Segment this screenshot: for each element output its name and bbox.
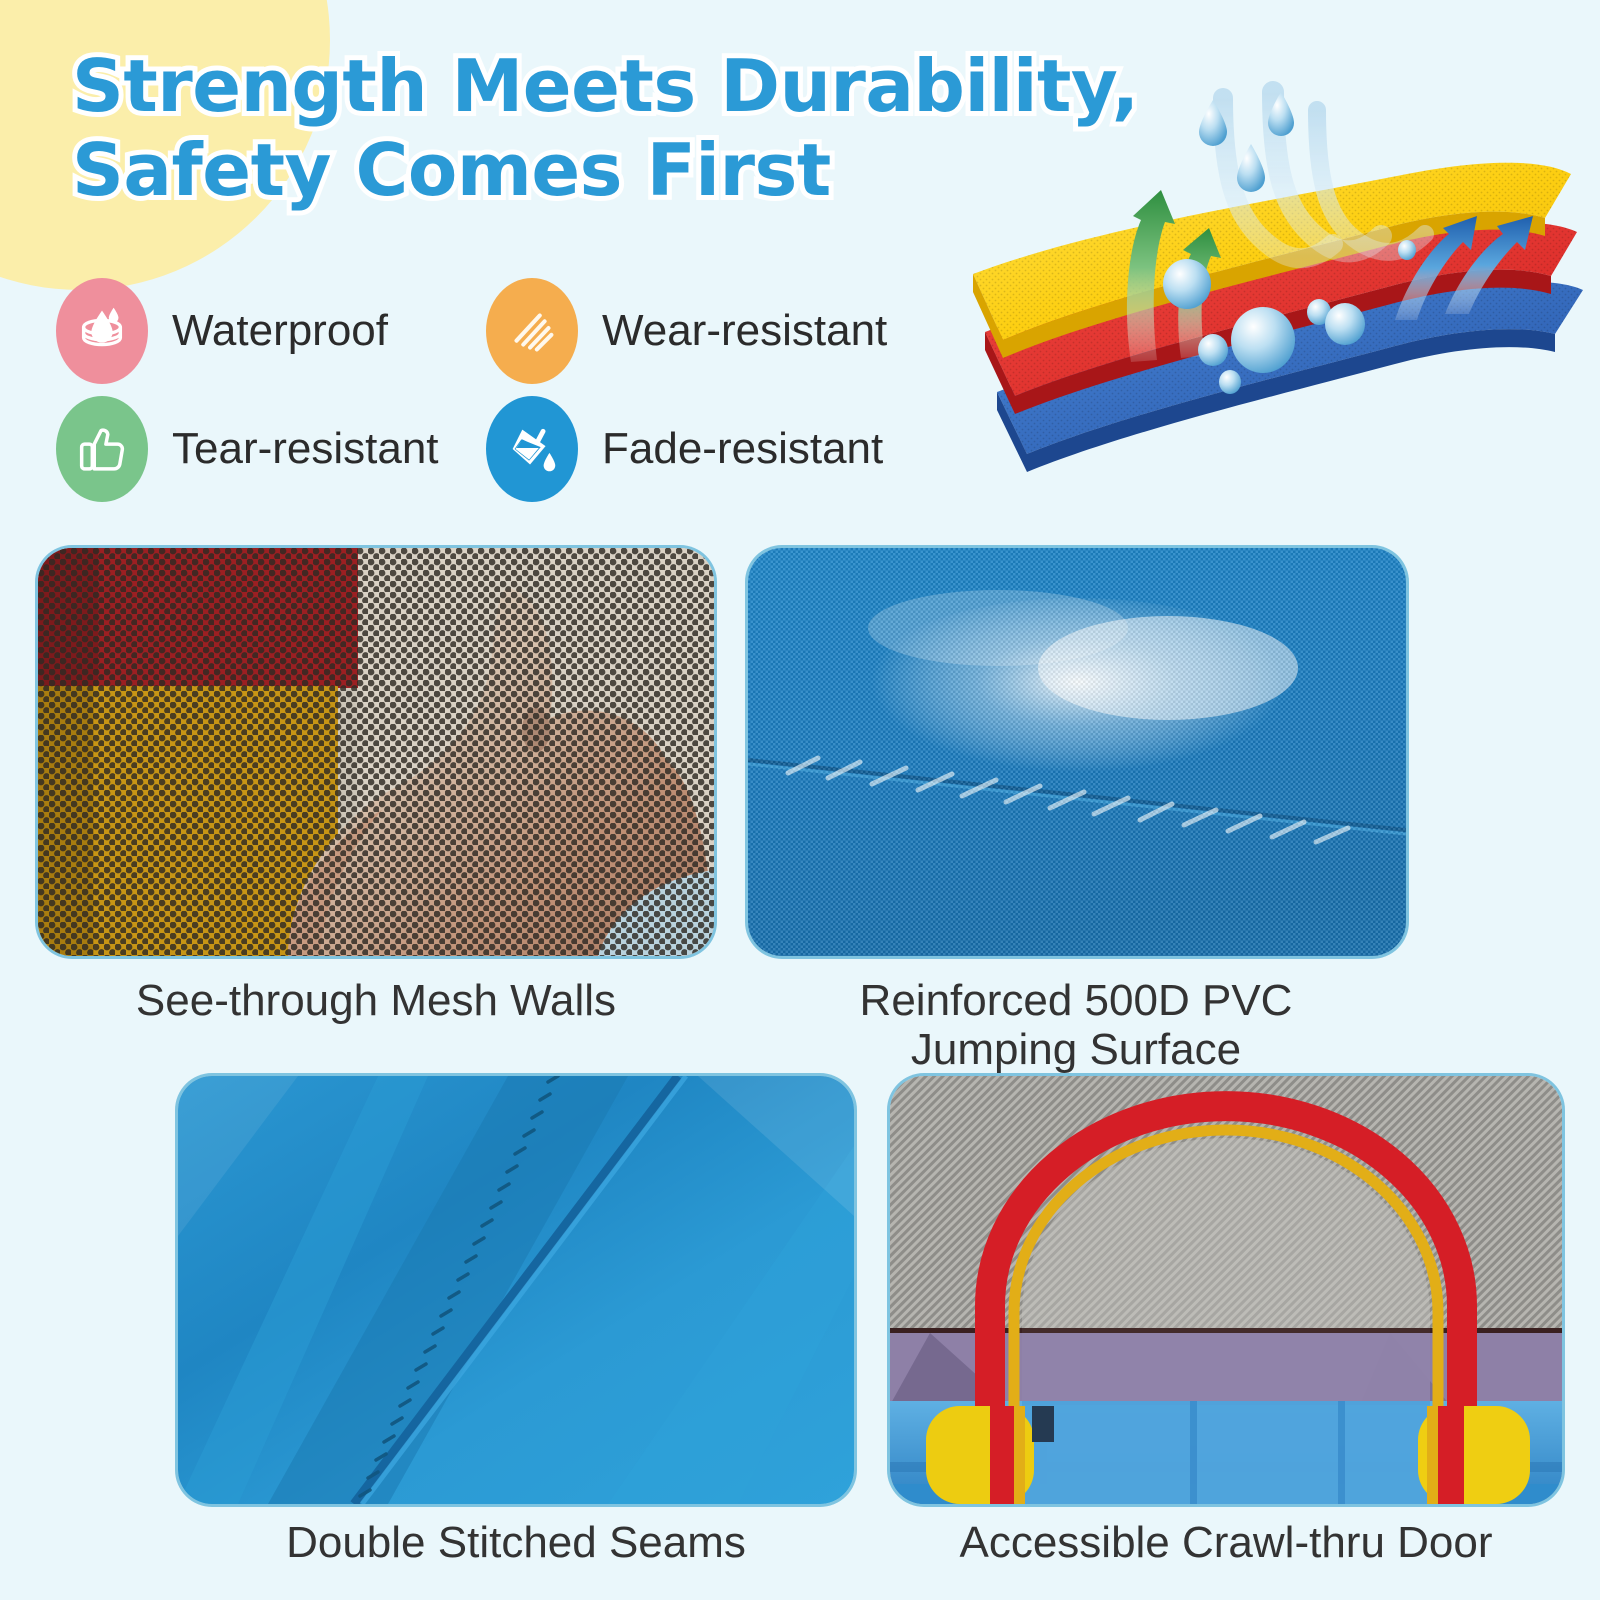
wear-resistant-badge — [486, 278, 578, 384]
feature-label: Tear-resistant — [172, 424, 439, 474]
feature-label: Wear-resistant — [602, 306, 887, 356]
page-title: Strength Meets Durability, Safety Comes … — [72, 44, 1139, 212]
pvc-surface-photo — [748, 548, 1406, 956]
stitched-seams-photo — [178, 1076, 854, 1504]
feature-list: Waterproof We — [56, 272, 956, 508]
caption-crawl-thru-door: Accessible Crawl-thru Door — [880, 1518, 1572, 1567]
feature-row-2: Tear-resistant — [56, 390, 956, 508]
feature-fade-resistant: Fade-resistant — [486, 396, 956, 502]
paint-pour-icon — [501, 418, 563, 480]
feature-waterproof: Waterproof — [56, 278, 486, 384]
thumbs-up-icon — [71, 418, 133, 480]
crawl-thru-door-photo — [890, 1076, 1562, 1504]
feature-label: Fade-resistant — [602, 424, 883, 474]
caption-stitched-seams: Double Stitched Seams — [178, 1518, 854, 1567]
feature-wear-resistant: Wear-resistant — [486, 278, 956, 384]
feature-row-1: Waterproof We — [56, 272, 956, 390]
caption-mesh-walls: See-through Mesh Walls — [38, 976, 714, 1025]
mesh-walls-photo — [38, 548, 714, 956]
feature-label: Waterproof — [172, 306, 388, 356]
tear-resistant-badge — [56, 396, 148, 502]
infographic-root: Strength Meets Durability, Safety Comes … — [0, 0, 1600, 1600]
fade-resistant-badge — [486, 396, 578, 502]
waterproof-badge — [56, 278, 148, 384]
abrasion-lines-icon — [501, 300, 563, 362]
water-drop-icon — [71, 300, 133, 362]
caption-pvc-surface: Reinforced 500D PVC Jumping Surface — [730, 976, 1422, 1075]
feature-tear-resistant: Tear-resistant — [56, 396, 486, 502]
